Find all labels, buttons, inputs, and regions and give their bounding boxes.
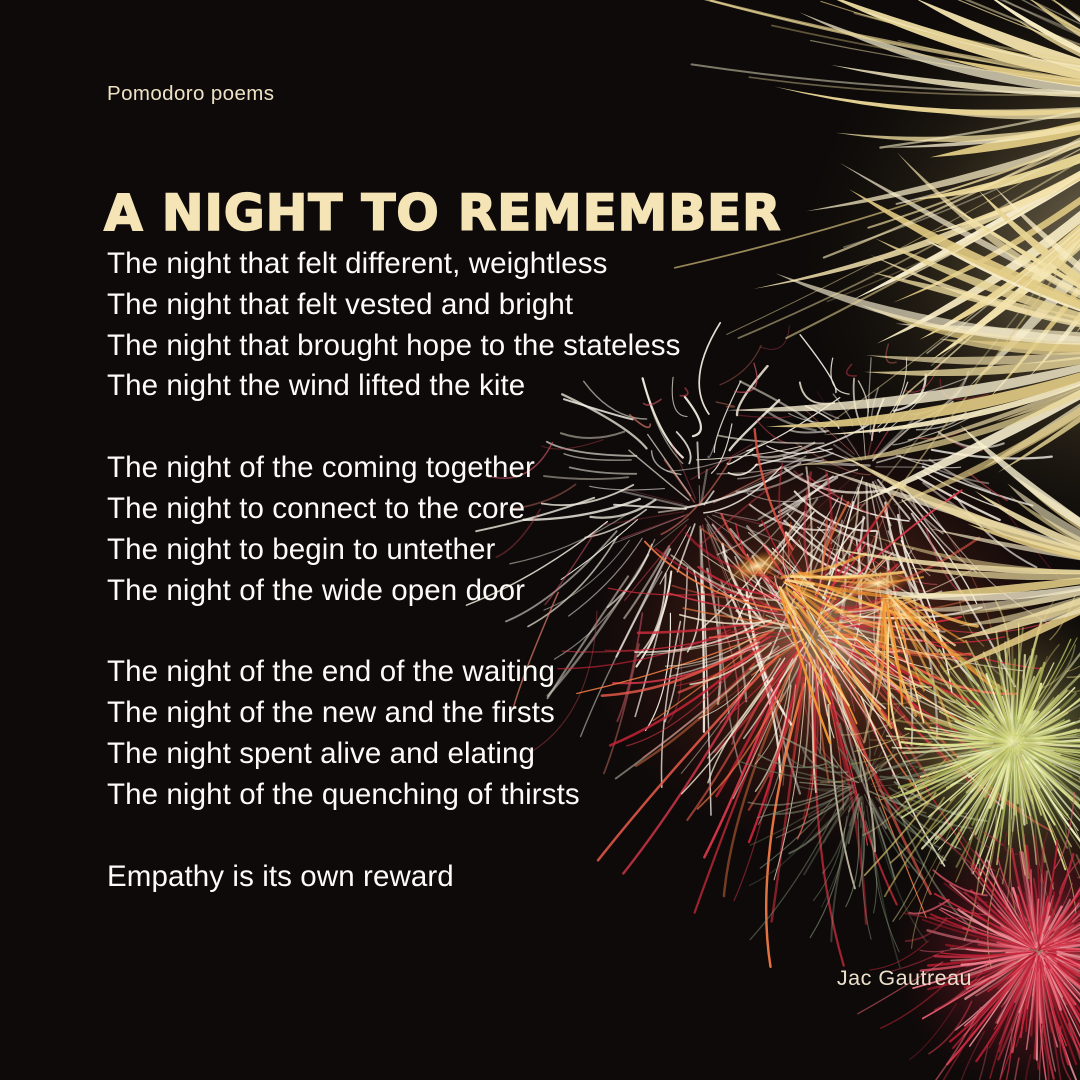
poem-line: Empathy is its own reward [107,857,807,898]
stanza-2: The night of the coming together The nig… [107,448,807,611]
poem-line: The night of the end of the waiting [107,652,807,693]
stanza-1: The night that felt different, weightles… [107,244,807,407]
poem-poster: Pomodoro poems A NIGHT TO REMEMBER The n… [0,0,1080,1080]
poem-line: The night to begin to untether [107,530,807,571]
author-signature: Jac Gautreau [837,966,972,991]
poem-line: The night spent alive and elating [107,734,807,775]
poster-text-layer: Pomodoro poems A NIGHT TO REMEMBER The n… [0,0,1080,1080]
kicker-label: Pomodoro poems [107,82,274,106]
poem-line: The night of the quenching of thirsts [107,775,807,816]
poem-line: The night of the new and the firsts [107,693,807,734]
poem-line: The night that brought hope to the state… [107,326,807,367]
stanza-4: Empathy is its own reward [107,857,807,898]
stanza-3: The night of the end of the waiting The … [107,652,807,815]
poem-line: The night to connect to the core [107,489,807,530]
poem-line: The night of the wide open door [107,571,807,612]
poem-line: The night the wind lifted the kite [107,366,807,407]
poem-line: The night that felt vested and bright [107,285,807,326]
poem-line: The night of the coming together [107,448,807,489]
poem-body: The night that felt different, weightles… [107,244,807,897]
poem-line: The night that felt different, weightles… [107,244,807,285]
page-title: A NIGHT TO REMEMBER [104,184,781,242]
